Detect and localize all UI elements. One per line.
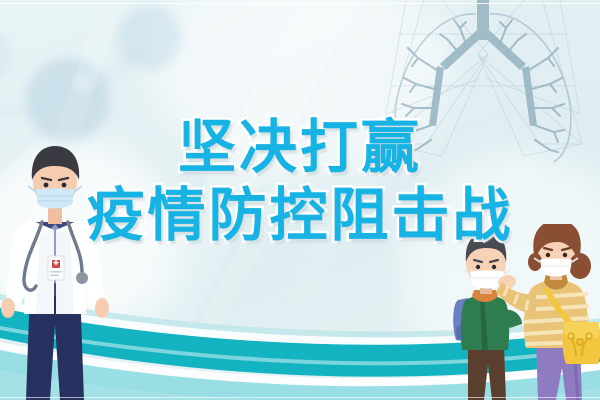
poster-canvas: 坚决打赢 疫情防控阻击战: [0, 0, 600, 400]
doctor-illustration: [0, 138, 114, 400]
bottom-hairline: [0, 397, 600, 398]
lungs-wireframe-icon: [368, 0, 598, 164]
top-hairline: [0, 3, 600, 4]
mother-and-child-illustration: [452, 224, 600, 400]
